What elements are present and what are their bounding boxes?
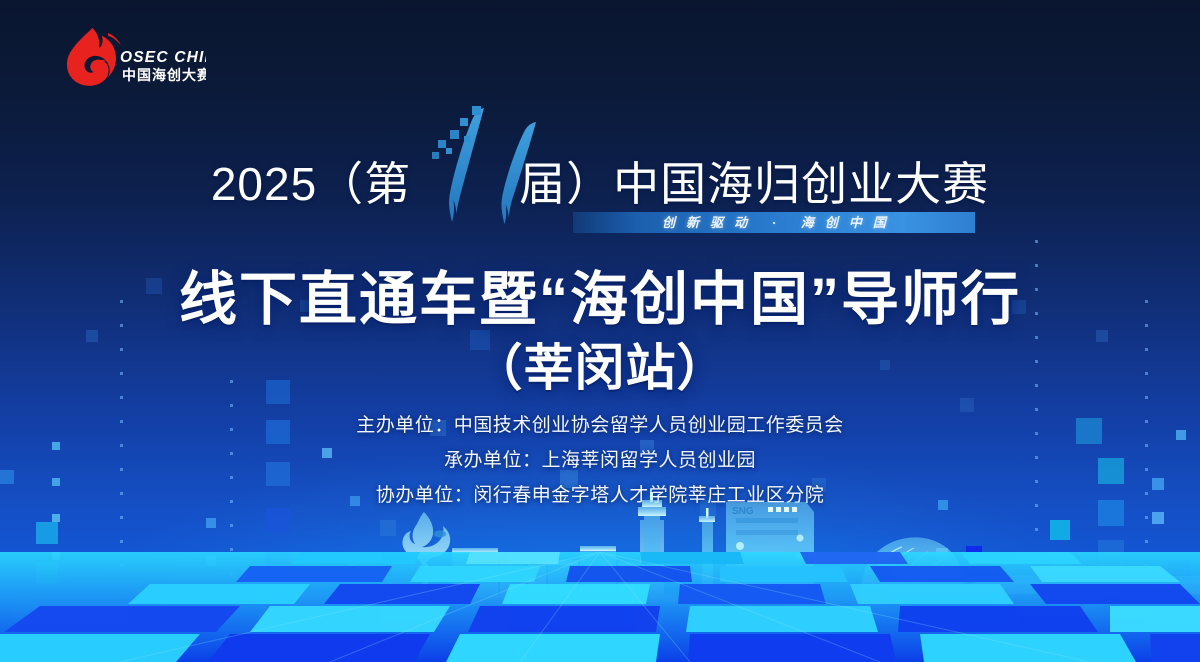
pixel-trail <box>472 106 481 115</box>
organizer-undertaker: 承办单位：上海莘闵留学人员创业园 <box>0 443 1200 478</box>
logo-latin-text: OSEC CHINA <box>120 49 206 66</box>
title-line-1-left: 2025（第 <box>211 158 411 210</box>
osec-china-logo[interactable]: OSEC CHINA 中国海创大赛 <box>56 26 206 88</box>
logo-cn-text: 中国海创大赛 <box>122 67 206 83</box>
poster-canvas: OSEC CHINA 中国海创大赛 <box>0 0 1200 662</box>
osec-flame-logo-svg: OSEC CHINA 中国海创大赛 <box>56 26 206 90</box>
svg-text:OSEC CHINA: OSEC CHINA <box>120 49 206 66</box>
title-line-1-right: 届）中国海归创业大赛 <box>519 158 989 210</box>
flame-mark <box>67 28 121 86</box>
perspective-grid-floor <box>0 552 1200 662</box>
slogan-ribbon: 创新驱动 · 海创中国 <box>573 212 975 233</box>
title-line-1: 2025（第届）中国海归创业大赛 <box>0 148 1200 214</box>
sng-building-label: SNG <box>732 506 754 517</box>
slogan-text: 创新驱动 · 海创中国 <box>573 212 975 233</box>
organizer-host: 主办单位：中国技术创业协会留学人员创业园工作委员会 <box>0 408 1200 443</box>
title-line-3: （莘闵站） <box>0 328 1200 400</box>
title-line-2: 线下直通车暨“海创中国”导师行 <box>0 252 1200 336</box>
svg-text:中国海创大赛: 中国海创大赛 <box>122 67 206 83</box>
